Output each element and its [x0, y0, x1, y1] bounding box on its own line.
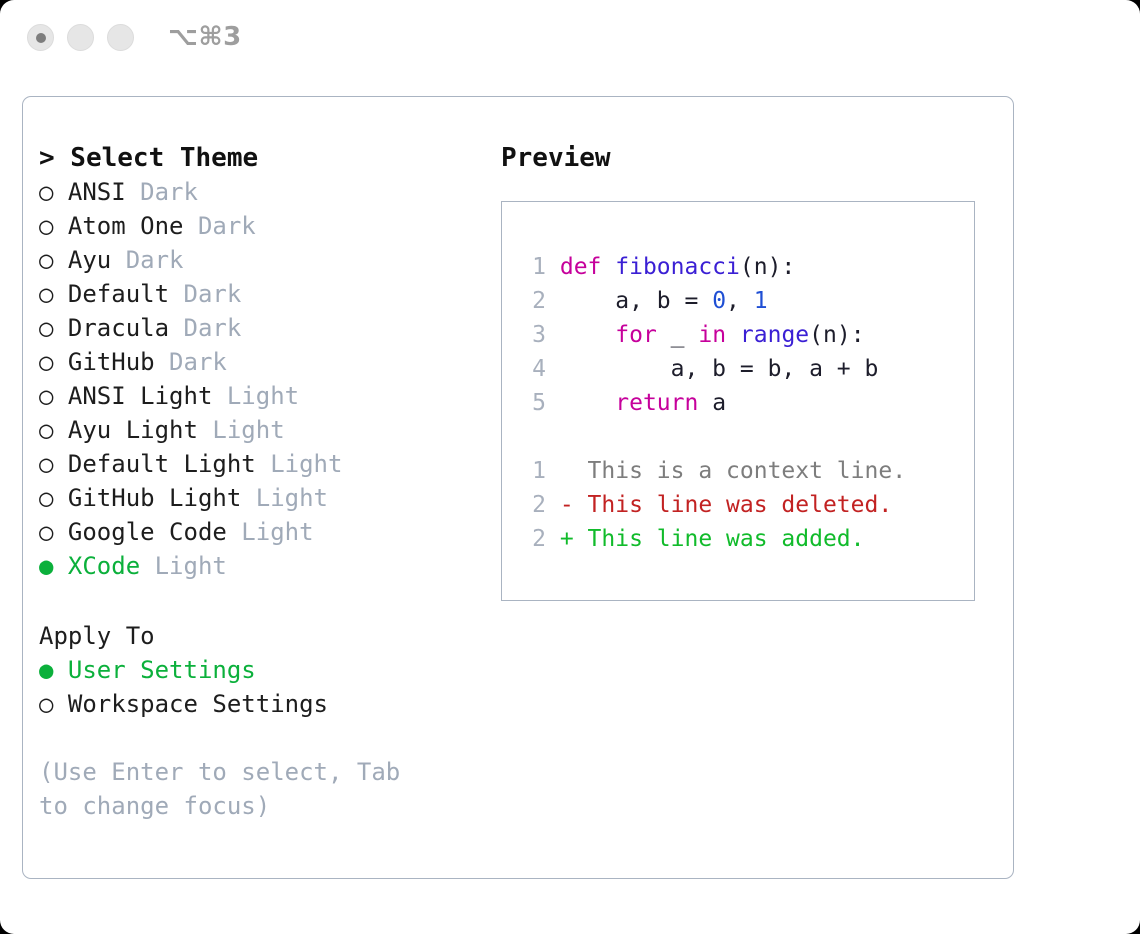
- select-theme-heading: > Select Theme: [39, 141, 479, 175]
- line-number: 2: [524, 284, 546, 318]
- theme-name-label: Atom One: [53, 212, 183, 240]
- theme-kind-label: Dark: [126, 178, 198, 206]
- code-token-kw: in: [698, 322, 726, 348]
- line-number: 3: [524, 318, 546, 352]
- code-token-kw: for: [615, 322, 657, 348]
- theme-name-label: GitHub: [53, 348, 154, 376]
- preview-box: 1 def fibonacci(n):2 a, b = 0, 13 for _ …: [501, 201, 975, 601]
- apply-to-heading: Apply To: [39, 619, 479, 653]
- code-token-pl: _: [657, 322, 699, 348]
- code-token-pl: ,: [726, 288, 754, 314]
- theme-picker-panel: > Select Theme ○ ANSI Dark○ Atom One Dar…: [22, 96, 1014, 879]
- apply-to-section: Apply To ● User Settings○ Workspace Sett…: [39, 619, 479, 721]
- radio-unselected-icon: ○: [39, 348, 53, 376]
- code-token-pl: a, b =: [560, 288, 712, 314]
- radio-selected-icon: ●: [39, 552, 53, 580]
- diff-line: 2 - This line was deleted.: [524, 488, 906, 522]
- code-token-del: - This line was deleted.: [560, 492, 892, 518]
- code-token-pl: (n):: [809, 322, 864, 348]
- code-token-pl: [560, 390, 615, 416]
- code-line: 3 for _ in range(n):: [524, 318, 906, 352]
- line-number: 5: [524, 386, 546, 420]
- theme-option-atom-one[interactable]: ○ Atom One Dark: [39, 209, 479, 243]
- radio-unselected-icon: ○: [39, 280, 53, 308]
- code-token-num: 1: [754, 288, 768, 314]
- theme-name-label: GitHub Light: [53, 484, 241, 512]
- theme-kind-label: Dark: [111, 246, 183, 274]
- line-number: 4: [524, 352, 546, 386]
- apply-to-option-user-settings[interactable]: ● User Settings: [39, 653, 479, 687]
- code-diff-separator: [524, 420, 906, 454]
- code-token-pl: [560, 322, 615, 348]
- theme-kind-label: Light: [241, 484, 328, 512]
- theme-name-label: ANSI: [53, 178, 125, 206]
- app-window: ⌥⌘3 > Select Theme ○ ANSI Dark○ Atom One…: [0, 0, 1140, 934]
- theme-name-label: ANSI Light: [53, 382, 212, 410]
- theme-selection-column: > Select Theme ○ ANSI Dark○ Atom One Dar…: [39, 141, 479, 823]
- theme-option-ayu-light[interactable]: ○ Ayu Light Light: [39, 413, 479, 447]
- theme-option-ansi-light[interactable]: ○ ANSI Light Light: [39, 379, 479, 413]
- radio-unselected-icon: ○: [39, 690, 53, 718]
- keyboard-hint-text: (Use Enter to select, Tab to change focu…: [39, 755, 439, 823]
- code-preview: 1 def fibonacci(n):2 a, b = 0, 13 for _ …: [524, 250, 906, 556]
- theme-name-label: Ayu Light: [53, 416, 198, 444]
- keyboard-shortcut-label: ⌥⌘3: [168, 22, 242, 52]
- window-dot-active-icon[interactable]: [27, 24, 54, 51]
- theme-name-label: Default: [53, 280, 169, 308]
- code-token-fn: fibonacci: [615, 254, 740, 280]
- theme-option-google-code[interactable]: ○ Google Code Light: [39, 515, 479, 549]
- diff-line: 2 + This line was added.: [524, 522, 906, 556]
- theme-option-dracula[interactable]: ○ Dracula Dark: [39, 311, 479, 345]
- theme-option-ansi[interactable]: ○ ANSI Dark: [39, 175, 479, 209]
- theme-kind-label: Light: [227, 518, 314, 546]
- radio-unselected-icon: ○: [39, 416, 53, 444]
- radio-unselected-icon: ○: [39, 178, 53, 206]
- code-token-num: 0: [712, 288, 726, 314]
- code-line: 4 a, b = b, a + b: [524, 352, 906, 386]
- radio-unselected-icon: ○: [39, 212, 53, 240]
- radio-unselected-icon: ○: [39, 314, 53, 342]
- line-number: 2: [524, 522, 546, 556]
- radio-unselected-icon: ○: [39, 382, 53, 410]
- theme-name-label: Ayu: [53, 246, 111, 274]
- code-line: 2 a, b = 0, 1: [524, 284, 906, 318]
- code-token-pl: [726, 322, 740, 348]
- code-token-pl: a: [698, 390, 726, 416]
- theme-name-label: Default Light: [53, 450, 255, 478]
- apply-to-label: User Settings: [53, 656, 255, 684]
- code-token-pl: (n):: [740, 254, 795, 280]
- theme-name-label: XCode: [53, 552, 140, 580]
- theme-kind-label: Dark: [169, 280, 241, 308]
- code-line: 5 return a: [524, 386, 906, 420]
- theme-kind-label: Dark: [169, 314, 241, 342]
- window-dot-three-icon[interactable]: [107, 24, 134, 51]
- theme-name-label: Dracula: [53, 314, 169, 342]
- preview-column: Preview 1 def fibonacci(n):2 a, b = 0, 1…: [501, 141, 1001, 601]
- radio-unselected-icon: ○: [39, 450, 53, 478]
- apply-to-label: Workspace Settings: [53, 690, 328, 718]
- preview-heading: Preview: [501, 141, 1001, 175]
- radio-selected-icon: ●: [39, 656, 53, 684]
- theme-kind-label: Light: [212, 382, 299, 410]
- diff-line: 1 This is a context line.: [524, 454, 906, 488]
- theme-option-default[interactable]: ○ Default Dark: [39, 277, 479, 311]
- theme-option-ayu[interactable]: ○ Ayu Dark: [39, 243, 479, 277]
- theme-kind-label: Light: [256, 450, 343, 478]
- theme-option-github[interactable]: ○ GitHub Dark: [39, 345, 479, 379]
- code-token-kw: return: [615, 390, 698, 416]
- title-bar: ⌥⌘3: [0, 0, 1140, 78]
- code-token-pl: a, b = b, a + b: [560, 356, 879, 382]
- code-token-add: + This line was added.: [560, 526, 865, 552]
- theme-kind-label: Dark: [155, 348, 227, 376]
- window-dot-two-icon[interactable]: [67, 24, 94, 51]
- code-token-kw: def: [560, 254, 615, 280]
- window-dot-inner-icon: [36, 33, 46, 43]
- theme-option-github-light[interactable]: ○ GitHub Light Light: [39, 481, 479, 515]
- apply-to-option-workspace-settings[interactable]: ○ Workspace Settings: [39, 687, 479, 721]
- code-token-ctx: This is a context line.: [560, 458, 906, 484]
- radio-unselected-icon: ○: [39, 518, 53, 546]
- window-controls: [27, 24, 134, 51]
- theme-name-label: Google Code: [53, 518, 226, 546]
- line-number: 1: [524, 454, 546, 488]
- theme-kind-label: Light: [198, 416, 285, 444]
- theme-list[interactable]: ○ ANSI Dark○ Atom One Dark○ Ayu Dark○ De…: [39, 175, 479, 583]
- radio-unselected-icon: ○: [39, 246, 53, 274]
- radio-unselected-icon: ○: [39, 484, 53, 512]
- line-number: 2: [524, 488, 546, 522]
- line-number: 1: [524, 250, 546, 284]
- code-line: 1 def fibonacci(n):: [524, 250, 906, 284]
- apply-to-options[interactable]: ● User Settings○ Workspace Settings: [39, 653, 479, 721]
- theme-kind-label: Light: [140, 552, 227, 580]
- theme-option-default-light[interactable]: ○ Default Light Light: [39, 447, 479, 481]
- theme-kind-label: Dark: [184, 212, 256, 240]
- code-token-fn: range: [740, 322, 809, 348]
- theme-option-xcode[interactable]: ● XCode Light: [39, 549, 479, 583]
